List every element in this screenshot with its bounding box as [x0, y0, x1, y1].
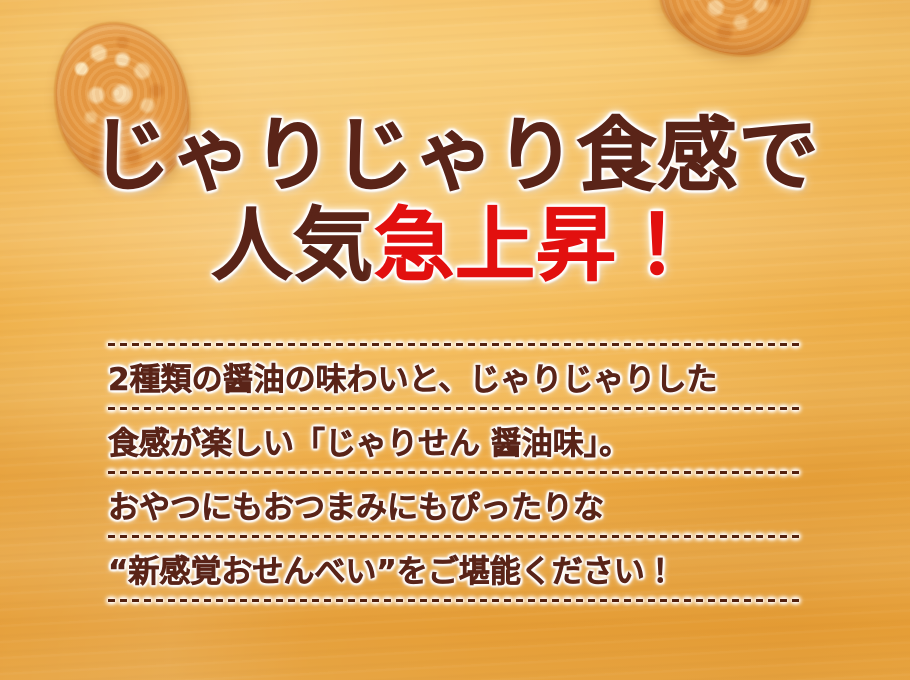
headline: じゃりじゃり食感で 人気急上昇！ [0, 116, 910, 286]
headline-line-1: じゃりじゃり食感で [0, 116, 910, 196]
dashed-divider [108, 343, 802, 346]
headline-line-2: 人気急上昇！ [0, 206, 910, 286]
promo-banner: じゃりじゃり食感で 人気急上昇！ 2種類の醤油の味わいと、じゃりじゃりした 食感… [0, 0, 910, 680]
copy-line: おやつにもおつまみにもぴったりな [108, 474, 802, 535]
headline-segment: じゃりじゃり食感で [91, 109, 820, 202]
headline-segment: 人気 [212, 199, 374, 292]
copy-line: 食感が楽しい「じゃりせん 醤油味」。 [108, 410, 802, 471]
copy-line: “新感覚おせんべい”をご堪能ください！ [108, 538, 802, 599]
dashed-divider [108, 407, 802, 410]
copy-line: 2種類の醤油の味わいと、じゃりじゃりした [108, 346, 802, 407]
dashed-divider [108, 471, 802, 474]
dashed-divider [108, 535, 802, 538]
dashed-divider [108, 599, 802, 602]
copy-block: 2種類の醤油の味わいと、じゃりじゃりした 食感が楽しい「じゃりせん 醤油味」。 … [108, 343, 802, 602]
headline-segment-accent: 急上昇！ [374, 199, 698, 292]
